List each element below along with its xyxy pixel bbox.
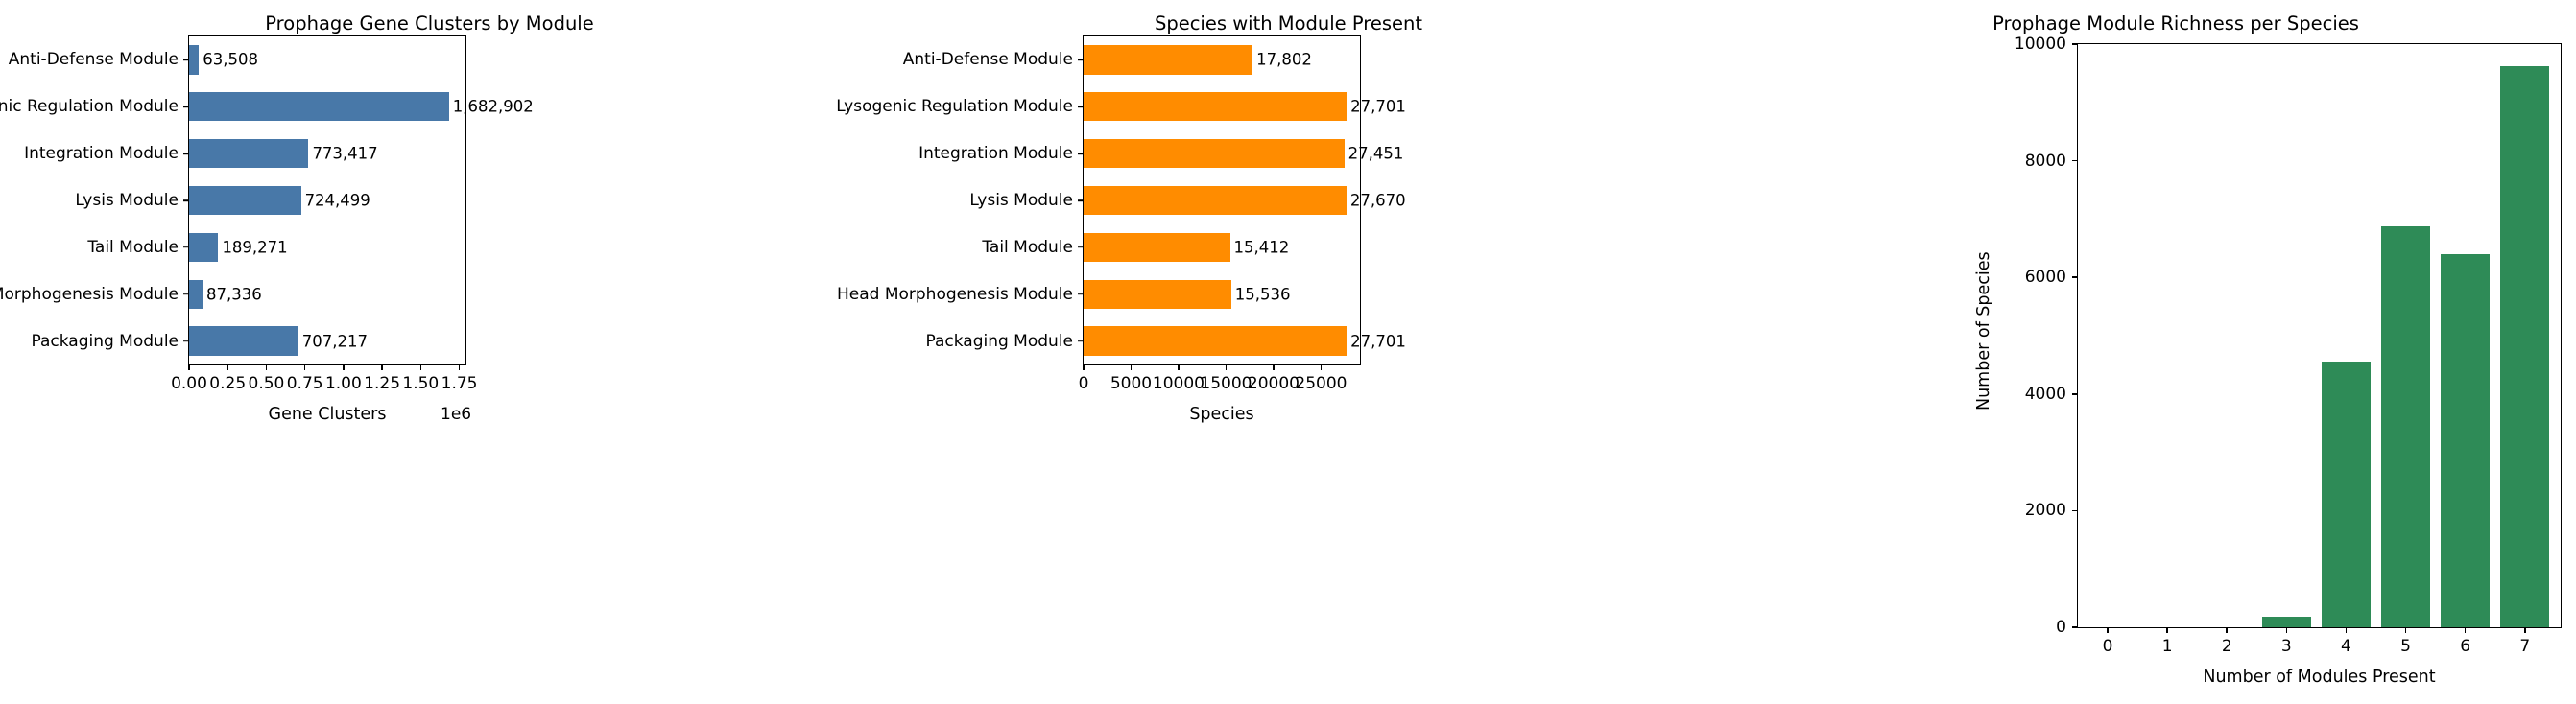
x-tick-mark <box>1083 364 1085 370</box>
y-tick-mark <box>1078 106 1084 107</box>
x-tick-mark <box>1273 364 1275 370</box>
x-tick-mark <box>343 364 345 370</box>
x-tick-mark <box>2346 627 2348 633</box>
y-tick-label: Anti-Defense Module <box>9 50 179 69</box>
bar-4 <box>2322 362 2371 627</box>
y-tick-mark <box>1078 293 1084 295</box>
x-tick-label: 0 <box>1079 374 1089 393</box>
y-tick-label: Lysogenic Regulation Module <box>0 97 179 116</box>
bar-2 <box>1084 92 1347 121</box>
bar-row: Tail Module15,412 <box>1084 233 1360 262</box>
x-tick-mark <box>1178 364 1180 370</box>
y-tick-mark <box>183 293 189 295</box>
bar-value-label: 27,701 <box>1350 98 1406 116</box>
y-tick-label: Lysogenic Regulation Module <box>836 97 1073 116</box>
y-tick-mark <box>2072 276 2078 278</box>
x-tick-label: 7 <box>2519 637 2530 656</box>
x-tick-label: 0.00 <box>171 374 207 393</box>
bar-value-label: 189,271 <box>222 238 287 256</box>
y-tick-mark <box>183 199 189 201</box>
y-tick-label: Integration Module <box>918 144 1073 163</box>
x-tick-mark <box>2465 627 2467 633</box>
x-tick-label: 0.75 <box>287 374 323 393</box>
x-tick-label: 1.00 <box>325 374 362 393</box>
y-axis-title: Number of Species <box>1974 251 1993 411</box>
x-tick-label: 4 <box>2341 637 2351 656</box>
x-tick-label: 1.75 <box>441 374 478 393</box>
y-tick-label: 4000 <box>2025 385 2066 404</box>
bar-value-label: 63,508 <box>203 51 258 69</box>
y-tick-label: 6000 <box>2025 268 2066 287</box>
y-tick-label: Head Morphogenesis Module <box>837 285 1073 304</box>
bar-row: Head Morphogenesis Module15,536 <box>1084 280 1360 309</box>
bar-value-label: 707,217 <box>302 332 368 350</box>
x-tick-label: 1.25 <box>364 374 400 393</box>
x-tick-label: 25000 <box>1295 374 1347 393</box>
bar-5 <box>1084 233 1230 262</box>
bar-value-label: 1,682,902 <box>453 98 534 116</box>
bar-value-label: 27,670 <box>1350 191 1406 209</box>
x-tick-mark <box>420 364 422 370</box>
panel-1-title: Prophage Gene Clusters by Module <box>0 12 859 35</box>
x-tick-mark <box>2286 627 2288 633</box>
x-tick-label: 5000 <box>1110 374 1152 393</box>
y-tick-mark <box>1078 59 1084 61</box>
x-tick-mark <box>2524 627 2526 633</box>
x-tick-mark <box>1226 364 1228 370</box>
bar-value-label: 15,412 <box>1234 238 1290 256</box>
y-tick-label: 8000 <box>2025 152 2066 171</box>
bar-7 <box>189 326 298 355</box>
y-tick-mark <box>183 59 189 61</box>
y-tick-mark <box>183 340 189 342</box>
x-tick-mark <box>304 364 306 370</box>
bar-5 <box>189 233 218 262</box>
y-tick-mark <box>1078 246 1084 248</box>
bar-row: Packaging Module707,217 <box>189 326 465 355</box>
x-axis-title: Species <box>1189 405 1253 424</box>
x-tick-mark <box>188 364 190 370</box>
bar-value-label: 27,451 <box>1348 145 1404 163</box>
bar-value-label: 27,701 <box>1350 332 1406 350</box>
x-tick-mark <box>381 364 383 370</box>
bar-row: Head Morphogenesis Module87,336 <box>189 280 465 309</box>
y-tick-label: Lysis Module <box>969 191 1073 210</box>
bar-7 <box>1084 326 1347 355</box>
x-axis-title: Number of Modules Present <box>2203 668 2435 687</box>
x-tick-mark <box>2107 627 2109 633</box>
bar-row: Lysogenic Regulation Module27,701 <box>1084 92 1360 121</box>
y-tick-label: 10000 <box>2015 35 2066 54</box>
x-tick-mark <box>227 364 228 370</box>
bar-4 <box>189 186 301 215</box>
x-tick-label: 6 <box>2460 637 2470 656</box>
x-tick-label: 0.50 <box>249 374 285 393</box>
x-tick-label: 0.25 <box>209 374 246 393</box>
x-tick-mark <box>266 364 268 370</box>
x-tick-mark <box>1321 364 1323 370</box>
bar-3 <box>1084 139 1345 168</box>
bar-value-label: 87,336 <box>206 285 262 303</box>
bar-row: Anti-Defense Module63,508 <box>189 45 465 74</box>
panel-3-title: Prophage Module Richness per Species <box>1776 12 2576 35</box>
y-tick-label: Packaging Module <box>31 332 179 351</box>
y-tick-mark <box>1078 153 1084 154</box>
y-tick-mark <box>183 153 189 154</box>
y-tick-label: Head Morphogenesis Module <box>0 285 179 304</box>
x-tick-label: 15000 <box>1200 374 1252 393</box>
x-tick-mark <box>459 364 461 370</box>
bar-1 <box>189 45 199 74</box>
panel-2-plot-area: Anti-Defense Module17,802Lysogenic Regul… <box>1083 35 1361 365</box>
bar-row: Packaging Module27,701 <box>1084 326 1360 355</box>
bar-row: Anti-Defense Module17,802 <box>1084 45 1360 74</box>
y-tick-label: Lysis Module <box>75 191 179 210</box>
y-tick-mark <box>1078 199 1084 201</box>
bar-3 <box>2262 617 2311 627</box>
x-tick-mark <box>2405 627 2407 633</box>
bar-6 <box>2441 254 2490 627</box>
panel-1-plot-area: Anti-Defense Module63,508Lysogenic Regul… <box>188 35 466 365</box>
x-tick-label: 0 <box>2103 637 2113 656</box>
x-tick-mark <box>1131 364 1133 370</box>
bar-7 <box>2500 66 2549 627</box>
y-tick-mark <box>1078 340 1084 342</box>
y-tick-label: Packaging Module <box>925 332 1073 351</box>
x-axis-title: Gene Clusters <box>269 405 387 424</box>
x-tick-label: 10000 <box>1153 374 1205 393</box>
bar-value-label: 724,499 <box>305 191 370 209</box>
panel-prophage-gene-clusters: Prophage Gene Clusters by Module Anti-De… <box>0 0 859 704</box>
panel-module-richness: Prophage Module Richness per Species 012… <box>1718 0 2576 704</box>
panel-3-plot-area: 012345670200040006000800010000Number of … <box>2077 43 2562 628</box>
y-tick-mark <box>2072 43 2078 45</box>
matplotlib-figure: Prophage Gene Clusters by Module Anti-De… <box>0 0 2576 704</box>
x-tick-label: 2 <box>2222 637 2232 656</box>
y-tick-label: Tail Module <box>982 238 1073 257</box>
bar-4 <box>1084 186 1347 215</box>
bar-row: Lysis Module724,499 <box>189 186 465 215</box>
y-tick-label: Integration Module <box>24 144 179 163</box>
bar-6 <box>189 280 203 309</box>
bar-row: Lysis Module27,670 <box>1084 186 1360 215</box>
y-tick-mark <box>2072 160 2078 162</box>
y-tick-mark <box>183 246 189 248</box>
y-tick-mark <box>2072 626 2078 628</box>
bar-row: Tail Module189,271 <box>189 233 465 262</box>
x-tick-mark <box>2226 627 2228 633</box>
bar-6 <box>1084 280 1231 309</box>
panel-2-title: Species with Module Present <box>859 12 1718 35</box>
x-axis-offset-text: 1e6 <box>441 405 471 424</box>
x-tick-label: 3 <box>2281 637 2292 656</box>
bar-row: Integration Module773,417 <box>189 139 465 168</box>
bar-row: Lysogenic Regulation Module1,682,902 <box>189 92 465 121</box>
y-tick-label: Tail Module <box>87 238 179 257</box>
bar-value-label: 773,417 <box>312 145 377 163</box>
bar-5 <box>2381 226 2430 627</box>
y-tick-mark <box>2072 393 2078 395</box>
bar-2 <box>189 92 449 121</box>
panel-species-with-module: Species with Module Present Anti-Defense… <box>859 0 1718 704</box>
bar-3 <box>189 139 308 168</box>
x-tick-label: 1.50 <box>402 374 439 393</box>
bar-value-label: 15,536 <box>1235 285 1291 303</box>
x-tick-label: 1 <box>2162 637 2173 656</box>
y-tick-mark <box>183 106 189 107</box>
y-tick-label: 2000 <box>2025 501 2066 520</box>
x-tick-label: 5 <box>2400 637 2411 656</box>
bar-value-label: 17,802 <box>1256 51 1312 69</box>
bar-row: Integration Module27,451 <box>1084 139 1360 168</box>
x-tick-mark <box>2166 627 2168 633</box>
bar-1 <box>1084 45 1252 74</box>
y-tick-label: 0 <box>2056 618 2066 637</box>
y-tick-mark <box>2072 510 2078 512</box>
x-tick-label: 20000 <box>1248 374 1300 393</box>
y-tick-label: Anti-Defense Module <box>903 50 1073 69</box>
